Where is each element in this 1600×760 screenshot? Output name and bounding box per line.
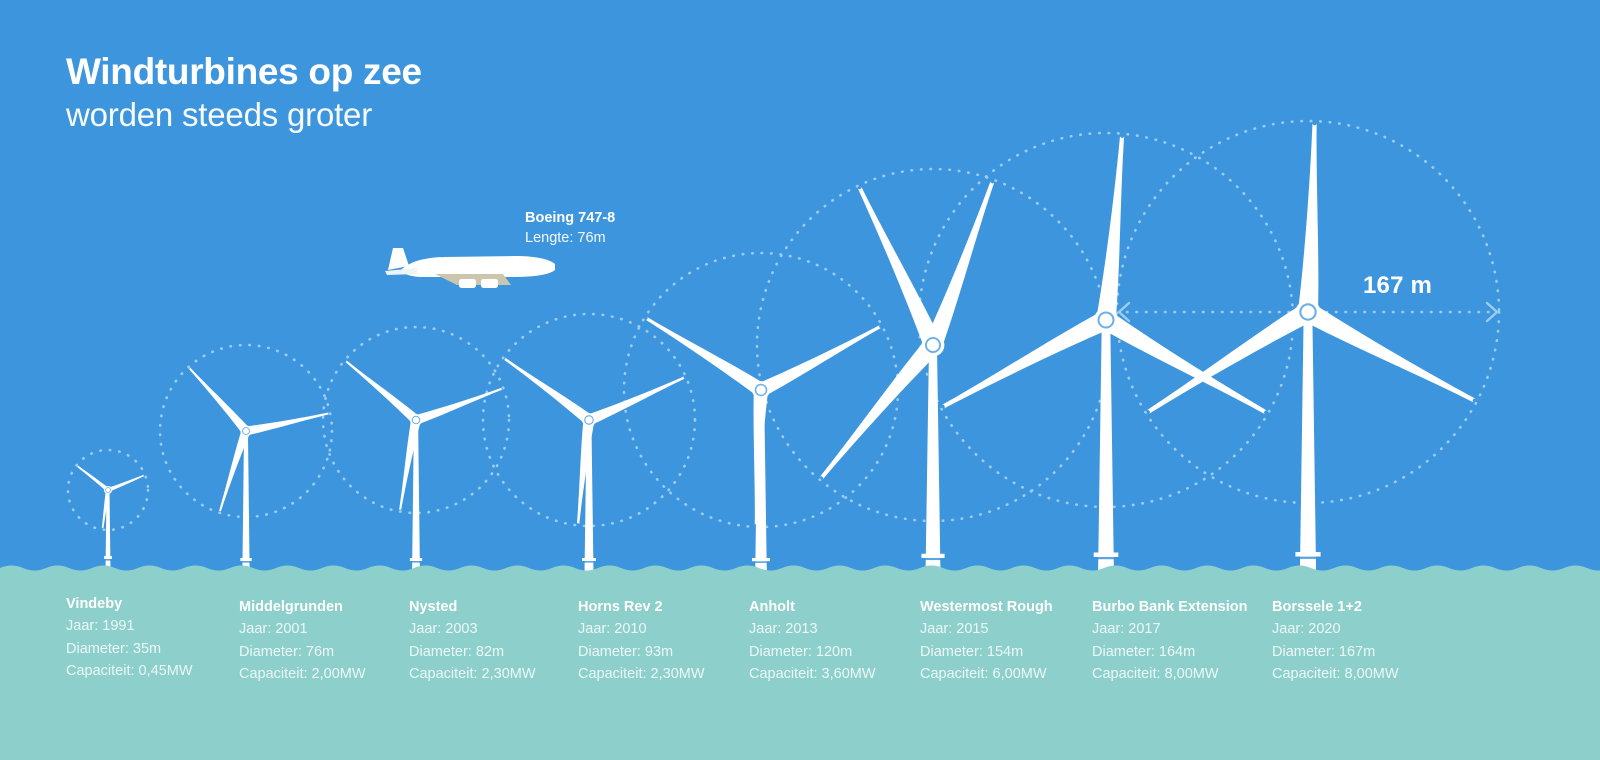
turbine-info-anholt: AnholtJaar: 2013Diameter: 120mCapaciteit… (749, 596, 876, 686)
airplane-engine-2 (481, 279, 498, 288)
turbine-info-vindeby: VindebyJaar: 1991Diameter: 35mCapaciteit… (66, 593, 193, 683)
turbine-year: Jaar: 2015 (920, 618, 1053, 641)
turbine-hub (1301, 305, 1314, 318)
turbine-year: Jaar: 2017 (1092, 618, 1248, 641)
turbine-platform-band (1094, 552, 1119, 556)
turbine-info-horns-rev-2: Horns Rev 2Jaar: 2010Diameter: 93mCapaci… (578, 596, 705, 686)
turbine-platform-gap (752, 561, 770, 563)
turbine-platform-gap (921, 558, 944, 560)
turbine-name: Westermost Rough (920, 596, 1053, 618)
turbine-year: Jaar: 2001 (239, 618, 366, 641)
turbine-hub (413, 417, 419, 423)
turbine-platform-band (410, 558, 422, 561)
turbine-info-borssele-1-2: Borssele 1+2Jaar: 2020Diameter: 167mCapa… (1272, 596, 1399, 686)
turbine-capacity: Capaciteit: 2,30MW (409, 663, 536, 686)
turbine-platform-band (752, 558, 770, 561)
turbine-diameter: Diameter: 154m (920, 641, 1053, 664)
turbine-platform-gap (240, 561, 251, 563)
turbine-name: Anholt (749, 596, 876, 618)
turbine-name: Vindeby (66, 593, 193, 615)
turbine-capacity: Capaciteit: 0,45MW (66, 660, 193, 683)
turbine-year: Jaar: 2010 (578, 618, 705, 641)
turbine-diameter: Diameter: 164m (1092, 641, 1248, 664)
turbine-name: Middelgrunden (239, 596, 366, 618)
turbine-capacity: Capaciteit: 2,00MW (239, 663, 366, 686)
turbine-platform-gap (1094, 557, 1119, 559)
turbine-platform-gap (1295, 557, 1320, 559)
turbine-year: Jaar: 2013 (749, 618, 876, 641)
turbine-diameter: Diameter: 167m (1272, 641, 1399, 664)
turbine-hub (106, 488, 110, 492)
turbine-name: Horns Rev 2 (578, 596, 705, 618)
turbine-platform-gap (410, 561, 422, 563)
turbine-diameter: Diameter: 120m (749, 641, 876, 664)
turbine-diameter: Diameter: 76m (239, 641, 366, 664)
turbine-capacity: Capaciteit: 6,00MW (920, 663, 1053, 686)
turbine-info-nysted: NystedJaar: 2003Diameter: 82mCapaciteit:… (409, 596, 536, 686)
turbine-platform-gap (104, 559, 112, 561)
turbine-platform-band (240, 558, 251, 561)
turbine-platform-band (921, 554, 944, 558)
plane-name: Boeing 747-8 (525, 208, 615, 228)
turbine-year: Jaar: 2003 (409, 618, 536, 641)
turbine-info-middelgrunden: MiddelgrundenJaar: 2001Diameter: 76mCapa… (239, 596, 366, 686)
turbine-hub (927, 339, 939, 351)
airplane-engine-1 (459, 279, 476, 288)
plane-length: Lengte: 76m (525, 228, 615, 248)
turbine-year: Jaar: 2020 (1272, 618, 1399, 641)
turbine-hub (585, 416, 592, 423)
diameter-measure-label: 167 m (1363, 272, 1432, 300)
turbine-capacity: Capaciteit: 3,60MW (749, 663, 876, 686)
turbine-platform-band (1295, 552, 1320, 557)
turbine-diameter: Diameter: 35m (66, 638, 193, 661)
turbine-diameter: Diameter: 82m (409, 641, 536, 664)
turbine-info-burbo-bank-extension: Burbo Bank ExtensionJaar: 2017Diameter: … (1092, 596, 1248, 686)
turbine-info-westermost-rough: Westermost RoughJaar: 2015Diameter: 154m… (920, 596, 1053, 686)
infographic-canvas: Windturbines op zee worden steeds groter… (0, 0, 1600, 760)
turbine-diameter: Diameter: 93m (578, 641, 705, 664)
turbine-name: Burbo Bank Extension (1092, 596, 1248, 618)
plane-annotation: Boeing 747-8 Lengte: 76m (525, 208, 615, 248)
turbine-platform-band (582, 558, 596, 561)
turbine-hub (756, 385, 765, 394)
turbine-capacity: Capaciteit: 8,00MW (1092, 663, 1248, 686)
title-line-secondary: worden steeds groter (66, 94, 422, 136)
turbine-year: Jaar: 1991 (66, 615, 193, 638)
turbine-hub (1100, 314, 1113, 327)
page-title: Windturbines op zee worden steeds groter (66, 50, 422, 136)
turbine-capacity: Capaciteit: 2,30MW (578, 663, 705, 686)
turbine-name: Nysted (409, 596, 536, 618)
title-line-primary: Windturbines op zee (66, 50, 422, 94)
turbine-hub (243, 428, 249, 434)
turbine-platform-gap (582, 561, 596, 563)
turbine-name: Borssele 1+2 (1272, 596, 1399, 618)
turbine-capacity: Capaciteit: 8,00MW (1272, 663, 1399, 686)
turbine-platform-band (104, 556, 112, 559)
